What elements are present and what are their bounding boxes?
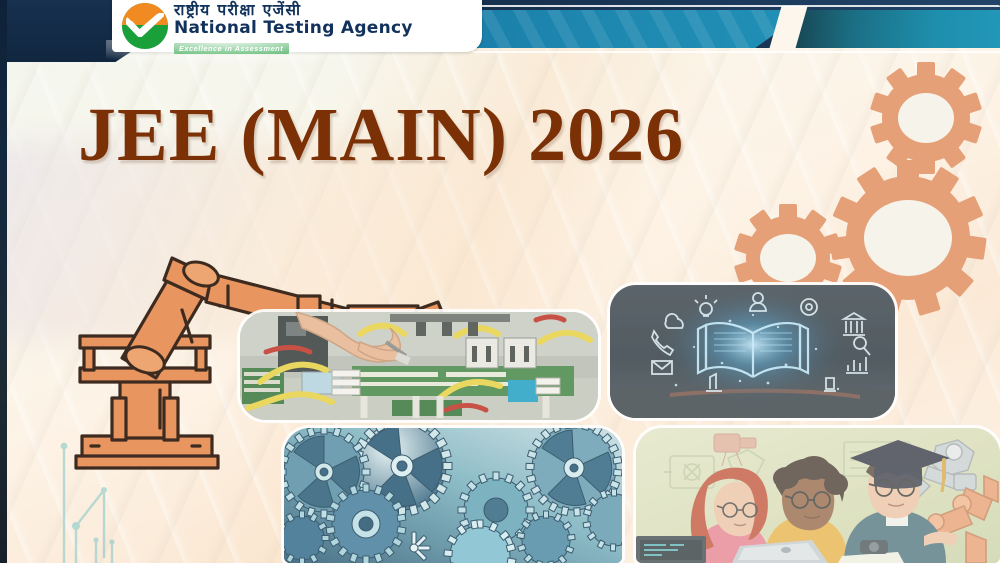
emblem-checkmark-icon (126, 13, 164, 37)
teal-bar-right (785, 10, 1000, 48)
logo-title-hindi: राष्ट्रीय परीक्षा एजेंसी (174, 2, 413, 19)
panel-electrical-panel-photo (240, 312, 598, 420)
panel-students-illustration (636, 428, 1000, 563)
gear-top-right (870, 62, 982, 174)
logo-title-english: National Testing Agency (174, 19, 413, 38)
nta-logo-header: राष्ट्रीय परीक्षा एजेंसी National Testin… (112, 0, 482, 52)
panel-mechanical-gears-photo (284, 428, 622, 563)
teal-bar-left (478, 10, 808, 48)
nta-logo-text: राष्ट्रीय परीक्षा एजेंसी National Testin… (174, 0, 413, 56)
nta-checkmark-emblem (122, 3, 168, 49)
left-dark-edge (0, 0, 7, 563)
jee-main-2026-poster: राष्ट्रीय परीक्षा एजेंसी National Testin… (0, 0, 1000, 563)
logo-tagline: Excellence in Assessment (174, 43, 289, 54)
decorative-gears-group (730, 60, 1000, 310)
panel-digital-learning-photo (610, 285, 895, 418)
